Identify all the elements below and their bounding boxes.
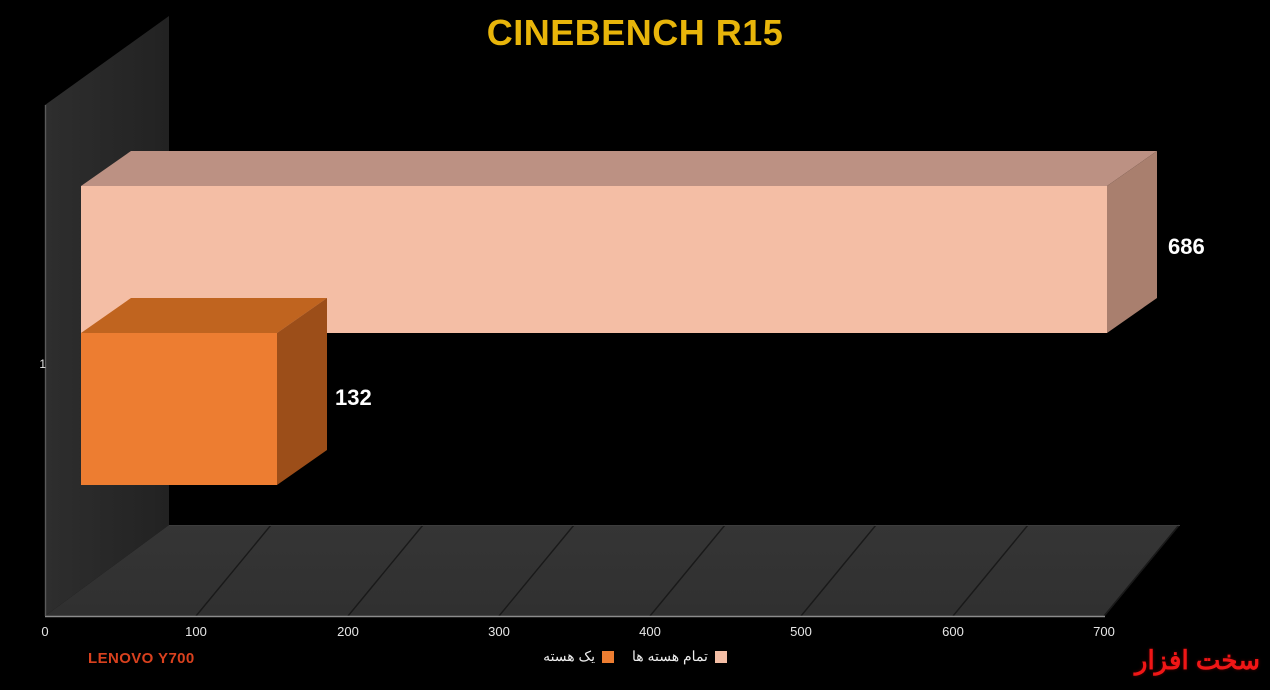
legend-label-all-cores: تمام هسته ها (632, 648, 708, 665)
x-tick-300: 300 (469, 624, 529, 639)
x-tick-0: 0 (15, 624, 75, 639)
x-tick-200: 200 (318, 624, 378, 639)
site-watermark: سخت افزار (1135, 645, 1260, 676)
data-label-single-core: 132 (335, 385, 372, 411)
x-tick-600: 600 (923, 624, 983, 639)
x-tick-700: 700 (1074, 624, 1134, 639)
bar-single-core (81, 298, 327, 485)
x-tick-100: 100 (166, 624, 226, 639)
legend-swatch-all-cores (715, 651, 727, 663)
bar-all-cores-top (81, 151, 1157, 186)
x-tick-400: 400 (620, 624, 680, 639)
legend-label-single-core: یک هسته (543, 648, 595, 665)
x-tick-500: 500 (771, 624, 831, 639)
chart-container: CINEBENCH R15 (0, 0, 1270, 690)
chart-plot-area (0, 0, 1270, 690)
y-axis-category-label: 1 (12, 357, 46, 371)
bar-single-core-front (81, 333, 277, 485)
legend-item-single-core[interactable]: یک هسته (543, 648, 614, 665)
plot-floor (45, 525, 1180, 616)
chart-legend: تمام هسته ها یک هسته (0, 648, 1270, 665)
legend-swatch-single-core (602, 651, 614, 663)
data-label-all-cores: 686 (1168, 234, 1205, 260)
legend-item-all-cores[interactable]: تمام هسته ها (632, 648, 727, 665)
